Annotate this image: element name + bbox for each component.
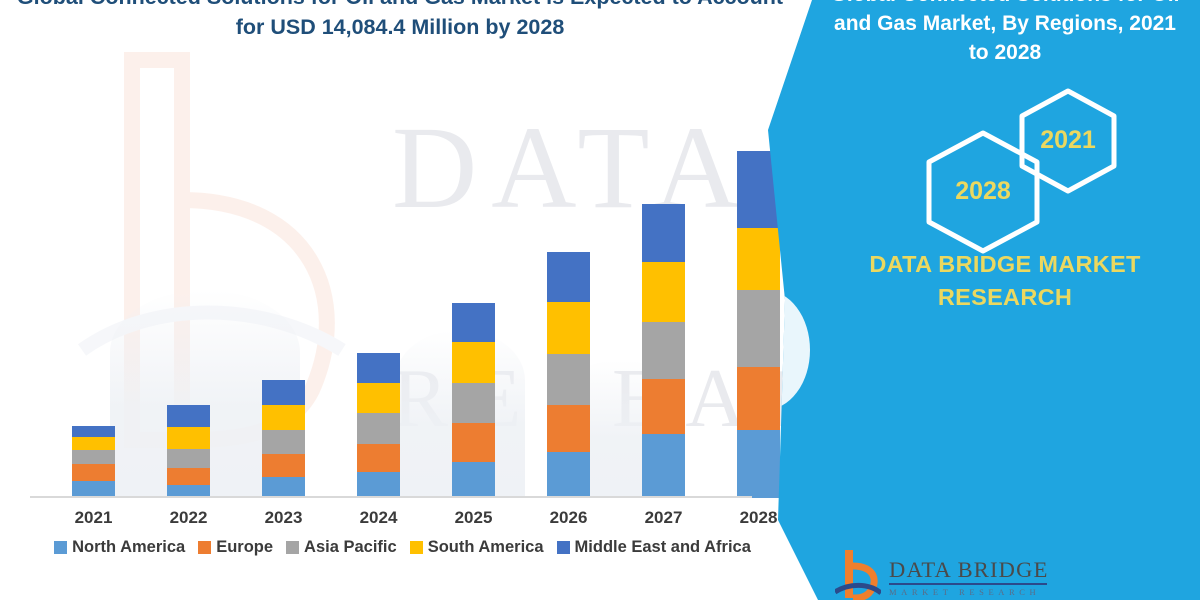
- stacked-bar[interactable]: [547, 252, 590, 498]
- bar-segment[interactable]: [72, 426, 115, 437]
- stacked-bar[interactable]: [737, 151, 780, 498]
- bar-segment[interactable]: [357, 413, 400, 444]
- bar-segment[interactable]: [167, 449, 210, 468]
- chart-legend: North AmericaEuropeAsia PacificSouth Ame…: [30, 538, 775, 557]
- bar-group-2026[interactable]: [521, 120, 616, 498]
- legend-item[interactable]: South America: [410, 538, 544, 557]
- bar-segment[interactable]: [452, 303, 495, 342]
- bar-segment[interactable]: [262, 454, 305, 477]
- bar-segment[interactable]: [642, 379, 685, 434]
- legend-swatch-icon: [410, 541, 423, 554]
- brand-logo-text: DATA BRIDGE MARKET RESEARCH: [889, 548, 1049, 597]
- brand-logo-title: DATA BRIDGE: [889, 558, 1049, 582]
- x-axis-tick-2023: 2023: [236, 508, 331, 528]
- bar-segment[interactable]: [357, 472, 400, 498]
- x-axis-line: [30, 496, 752, 498]
- bar-segment[interactable]: [642, 322, 685, 379]
- bar-group-2021[interactable]: [46, 120, 141, 498]
- bar-segment[interactable]: [547, 252, 590, 302]
- bar-segment[interactable]: [167, 405, 210, 427]
- bar-segment[interactable]: [642, 434, 685, 498]
- x-axis-labels: 20212022202320242025202620272028: [30, 508, 770, 534]
- bar-group-2024[interactable]: [331, 120, 426, 498]
- bar-segment[interactable]: [72, 464, 115, 481]
- bar-segment[interactable]: [262, 405, 305, 430]
- bar-segment[interactable]: [262, 430, 305, 454]
- x-axis-tick-2021: 2021: [46, 508, 141, 528]
- bar-segment[interactable]: [72, 450, 115, 464]
- legend-item[interactable]: Asia Pacific: [286, 538, 397, 557]
- brand-logo: DATA BRIDGE MARKET RESEARCH: [835, 548, 1135, 600]
- x-axis-tick-2022: 2022: [141, 508, 236, 528]
- stacked-bar[interactable]: [357, 353, 400, 498]
- bar-segment[interactable]: [452, 462, 495, 498]
- bar-segment[interactable]: [262, 380, 305, 405]
- x-axis-tick-2025: 2025: [426, 508, 521, 528]
- bar-segment[interactable]: [72, 437, 115, 450]
- bar-segment[interactable]: [357, 353, 400, 383]
- bar-segment[interactable]: [262, 477, 305, 498]
- brand-panel-title: Global Connected Solutions for Oil and G…: [830, 0, 1180, 67]
- brand-panel: Global Connected Solutions for Oil and G…: [760, 0, 1200, 600]
- bar-segment[interactable]: [737, 228, 780, 290]
- legend-item[interactable]: North America: [54, 538, 185, 557]
- legend-item[interactable]: Europe: [198, 538, 273, 557]
- bar-segment[interactable]: [452, 383, 495, 423]
- stacked-bar[interactable]: [262, 380, 305, 498]
- bar-segment[interactable]: [452, 342, 495, 383]
- x-axis-tick-2027: 2027: [616, 508, 711, 528]
- stacked-bar[interactable]: [72, 426, 115, 498]
- plot-area: [30, 120, 770, 498]
- bar-segment[interactable]: [547, 354, 590, 405]
- legend-label: South America: [428, 538, 544, 557]
- hexagon-badge-2021: 2021: [1012, 85, 1124, 197]
- bar-segment[interactable]: [642, 204, 685, 262]
- bar-group-2027[interactable]: [616, 120, 711, 498]
- bar-segment[interactable]: [737, 430, 780, 498]
- bar-segment[interactable]: [737, 290, 780, 367]
- bar-group-2023[interactable]: [236, 120, 331, 498]
- infographic-root: DATA BRIDGE RESEARCH Global Connected So…: [0, 0, 1200, 600]
- hexagon-label-2021: 2021: [1012, 126, 1124, 155]
- stacked-bar[interactable]: [452, 303, 495, 498]
- page-title: Global Connected Solutions for Oil and G…: [0, 0, 800, 42]
- bar-group-2025[interactable]: [426, 120, 521, 498]
- stacked-bar[interactable]: [642, 204, 685, 498]
- bar-group-2022[interactable]: [141, 120, 236, 498]
- bar-segment[interactable]: [167, 427, 210, 449]
- legend-swatch-icon: [286, 541, 299, 554]
- stacked-bar[interactable]: [167, 405, 210, 498]
- legend-label: Middle East and Africa: [575, 538, 751, 557]
- bar-segment[interactable]: [452, 423, 495, 462]
- legend-label: North America: [72, 538, 185, 557]
- x-axis-tick-2024: 2024: [331, 508, 426, 528]
- bar-segment[interactable]: [737, 367, 780, 430]
- x-axis-tick-2026: 2026: [521, 508, 616, 528]
- brand-logo-rule: [889, 583, 1047, 585]
- legend-item[interactable]: Middle East and Africa: [557, 538, 751, 557]
- bar-segment[interactable]: [642, 262, 685, 322]
- legend-swatch-icon: [198, 541, 211, 554]
- bar-segment[interactable]: [357, 444, 400, 472]
- bar-segment[interactable]: [547, 302, 590, 354]
- bar-segment[interactable]: [357, 383, 400, 413]
- hexagon-badges: 2028 2021: [900, 95, 1200, 225]
- brand-name: DATA BRIDGE MARKET RESEARCH: [840, 248, 1170, 314]
- legend-swatch-icon: [557, 541, 570, 554]
- chart-panel: DATA BRIDGE RESEARCH Global Connected So…: [0, 0, 830, 600]
- bar-segment[interactable]: [167, 468, 210, 485]
- legend-swatch-icon: [54, 541, 67, 554]
- legend-label: Asia Pacific: [304, 538, 397, 557]
- bar-segment[interactable]: [547, 452, 590, 498]
- bar-segment[interactable]: [547, 405, 590, 452]
- databridge-b-logo-icon: [835, 548, 881, 600]
- legend-label: Europe: [216, 538, 273, 557]
- brand-logo-subtitle: MARKET RESEARCH: [889, 587, 1049, 597]
